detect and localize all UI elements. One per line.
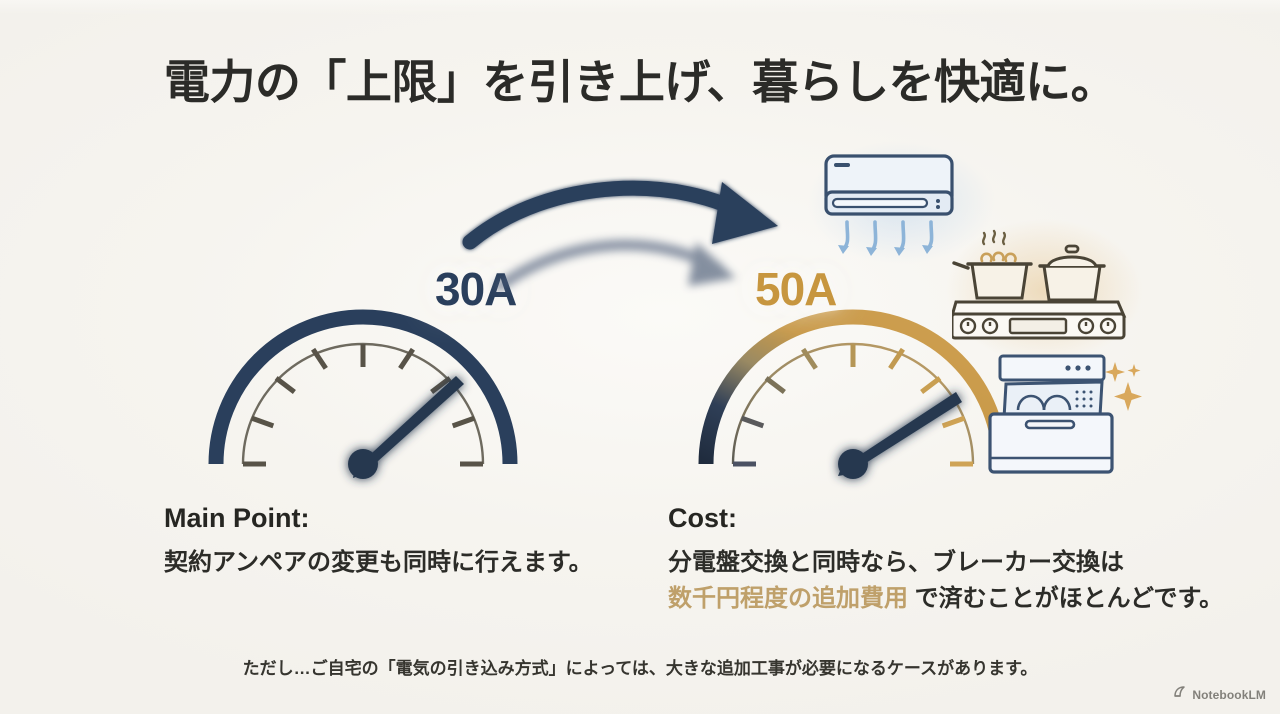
gauge-outer-arc	[216, 317, 510, 464]
cost-body-line-2: 数千円程度の追加費用 で済むことがほとんどです。	[668, 581, 1228, 617]
induction-cooktop-icon	[952, 228, 1127, 348]
slide-canvas: 電力の「上限」を引き上げ、暮らしを快適に。	[0, 0, 1280, 714]
gauge-tick-group	[733, 344, 973, 464]
gauge-tick-group	[243, 344, 483, 464]
cost-body: 分電盤交換と同時なら、ブレーカー交換は 数千円程度の追加費用 で済むことがほとん…	[668, 545, 1228, 616]
main-point-body: 契約アンペアの変更も同時に行えます。	[164, 545, 644, 581]
cost-highlight: 数千円程度の追加費用	[668, 585, 908, 612]
cost-heading: Cost:	[668, 503, 1228, 534]
primary-upgrade-arrow	[470, 182, 778, 244]
dishwasher-icon	[982, 348, 1147, 483]
top-edge-band	[0, 0, 1280, 14]
column-main-point: Main Point: 契約アンペアの変更も同時に行えます。	[164, 503, 644, 581]
footnote: ただし…ご自宅の「電気の引き込み方式」によっては、大きな追加工事が必要になるケー…	[0, 654, 1280, 679]
page-title: 電力の「上限」を引き上げ、暮らしを快適に。	[0, 46, 1280, 112]
gauge-needle	[838, 392, 962, 479]
upgrade-arrows	[460, 160, 820, 305]
main-point-heading: Main Point:	[164, 503, 644, 534]
notebooklm-label: NotebookLM	[1192, 688, 1266, 702]
column-cost: Cost: 分電盤交換と同時なら、ブレーカー交換は 数千円程度の追加費用 で済む…	[668, 503, 1228, 616]
cost-body-rest: で済むことがほとんどです。	[908, 585, 1223, 612]
sparkle-group	[1105, 362, 1142, 411]
secondary-upgrade-arrow	[500, 242, 736, 286]
gauge-needle	[348, 376, 464, 479]
notebooklm-watermark: NotebookLM	[1173, 685, 1266, 704]
notebooklm-logo-icon	[1173, 685, 1187, 704]
cost-body-line-1: 分電盤交換と同時なら、ブレーカー交換は	[668, 545, 1228, 581]
